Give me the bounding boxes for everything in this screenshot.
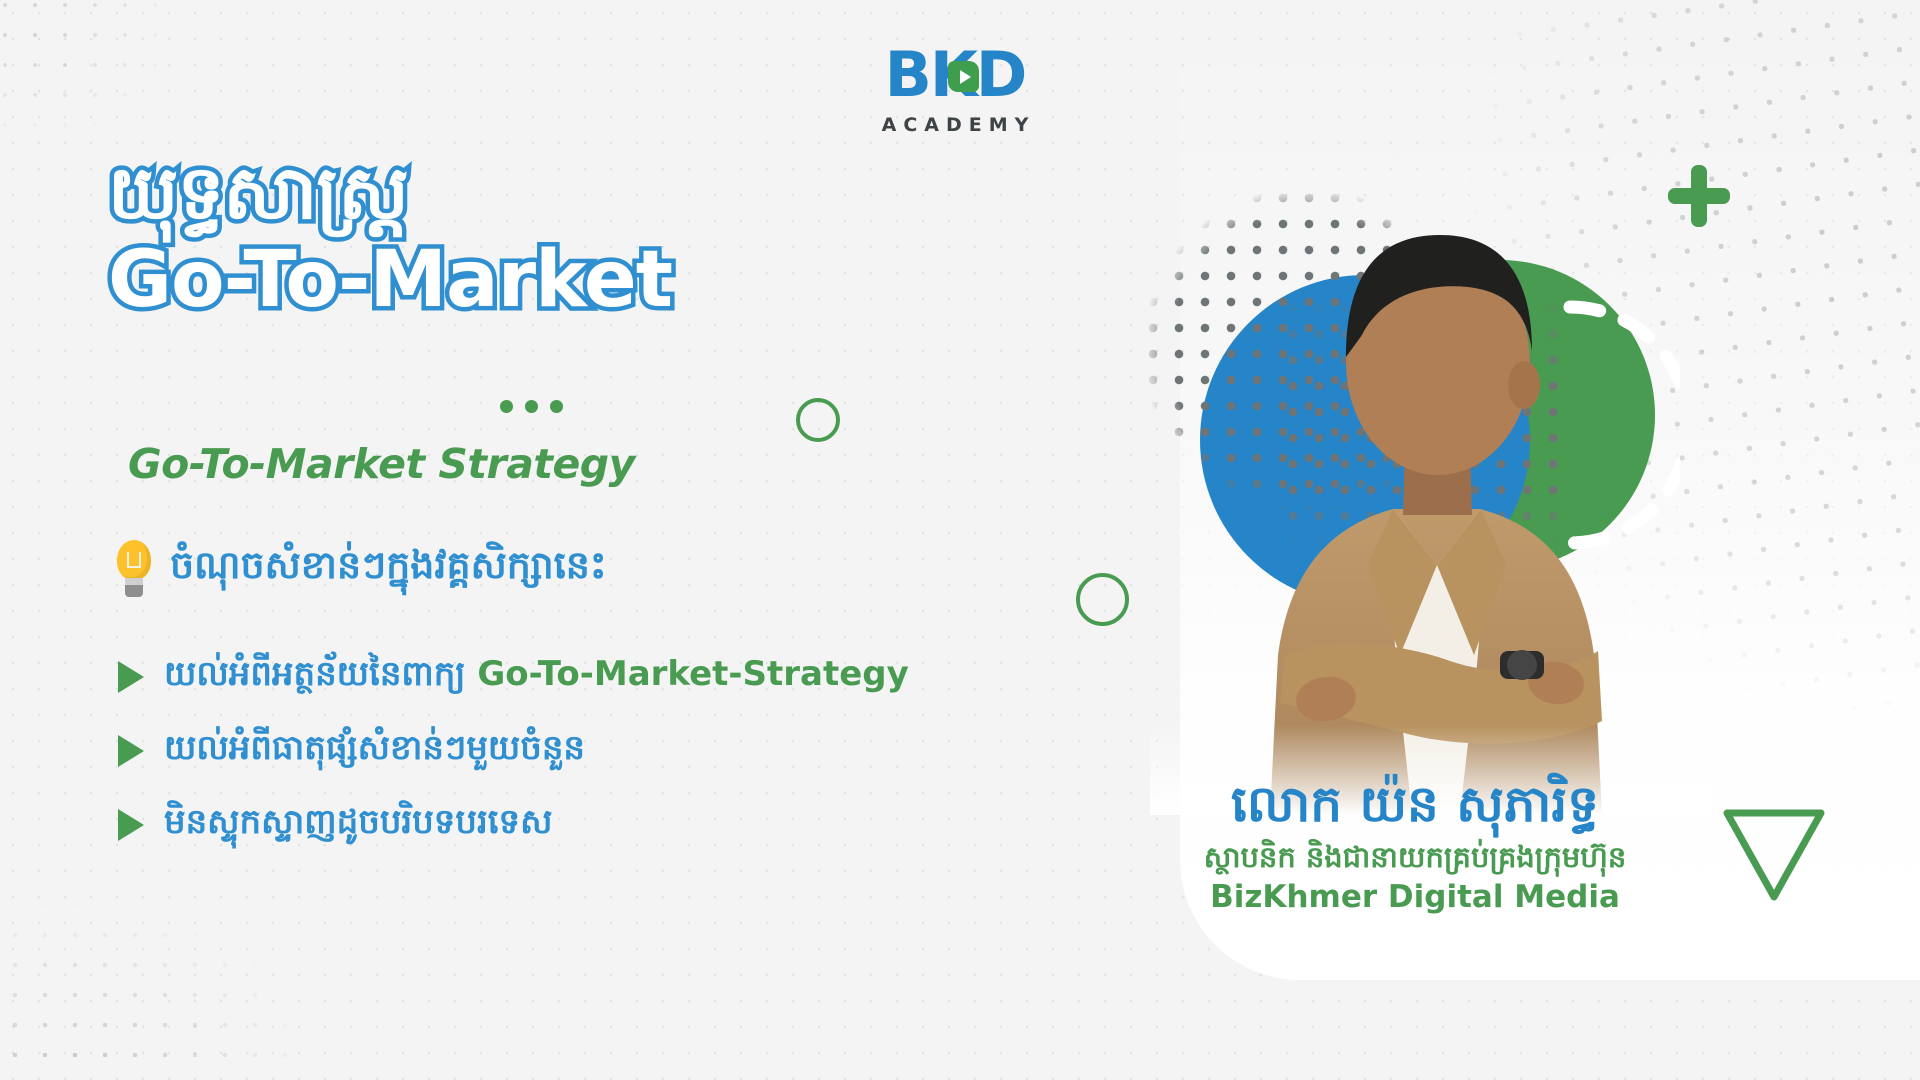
bullet-text: មិនស្ទុកស្ទាញដូចបរិបទបរទេស: [164, 800, 552, 850]
speaker-role: ស្ថាបនិក និងជានាយកគ្រប់គ្រងក្រុមហ៊ុន: [1135, 838, 1695, 877]
ellipsis-dots: [500, 400, 563, 413]
circle-outline-icon: [1076, 573, 1129, 626]
ellipsis-dot: [525, 400, 538, 413]
ellipsis-dot: [500, 400, 513, 413]
bkd-academy-logo: BKD ACADEMY: [845, 44, 1065, 136]
circle-outline-icon: [796, 398, 840, 442]
bullet-text: យល់អំពីធាតុផ្សំសំខាន់ៗមួយចំនួន: [164, 726, 585, 776]
subtitle: Go-To-Market Strategy: [128, 440, 635, 488]
slide-canvas: BKD ACADEMY យុទ្ធសាស្ត្រ Go-To-Market Go…: [0, 0, 1920, 1080]
list-item: មិនស្ទុកស្ទាញដូចបរិបទបរទេស: [118, 788, 909, 862]
lightbulb-filament: [127, 552, 141, 568]
speaker-info: លោក យ៉ន សុភារិទ្ធ ស្ថាបនិក និងជានាយកគ្រប…: [1135, 775, 1695, 917]
triangle-bullet-icon: [118, 661, 144, 693]
speaker-photo: [1150, 95, 1710, 815]
headline-block: យុទ្ធសាស្ត្រ Go-To-Market: [108, 152, 938, 324]
play-icon: [948, 61, 979, 92]
bullet-text-english: Go-To-Market-Strategy: [477, 654, 908, 694]
bullet-list: យល់អំពីអត្ថន័យនៃពាក្យ Go-To-Market-Strat…: [118, 640, 909, 862]
headline-khmer: យុទ្ធសាស្ត្រ: [108, 152, 938, 236]
lightbulb-base: [125, 585, 143, 597]
speaker-company: BizKhmer Digital Media: [1135, 877, 1695, 917]
triangle-bullet-icon: [118, 809, 144, 841]
bullet-text-khmer: មិនស្ទុកស្ទាញដូចបរិបទបរទេស: [164, 802, 552, 842]
ellipsis-dot: [550, 400, 563, 413]
speaker-name: លោក យ៉ន សុភារិទ្ធ: [1135, 775, 1695, 834]
headline-english: Go-To-Market: [108, 236, 938, 324]
kicker-text: ចំណុចសំខាន់ៗក្នុងវគ្គសិក្សានេះ: [170, 541, 607, 597]
list-item: យល់អំពីធាតុផ្សំសំខាន់ៗមួយចំនួន: [118, 714, 909, 788]
lightbulb-icon: [112, 540, 156, 598]
triangle-down-outline-icon: [1722, 807, 1826, 903]
lightbulb-neck: [125, 578, 143, 585]
kicker-row: ចំណុចសំខាន់ៗក្នុងវគ្គសិក្សានេះ: [112, 540, 607, 598]
logo-subtitle: ACADEMY: [845, 114, 1065, 136]
bullet-text-khmer: យល់អំពីធាតុផ្សំសំខាន់ៗមួយចំនួន: [164, 728, 585, 768]
bullet-text-khmer: យល់អំពីអត្ថន័យនៃពាក្យ: [164, 654, 477, 694]
bullet-text: យល់អំពីអត្ថន័យនៃពាក្យ Go-To-Market-Strat…: [164, 652, 909, 702]
list-item: យល់អំពីអត្ថន័យនៃពាក្យ Go-To-Market-Strat…: [118, 640, 909, 714]
speaker-photo-composition: [1150, 95, 1710, 815]
triangle-bullet-icon: [118, 735, 144, 767]
